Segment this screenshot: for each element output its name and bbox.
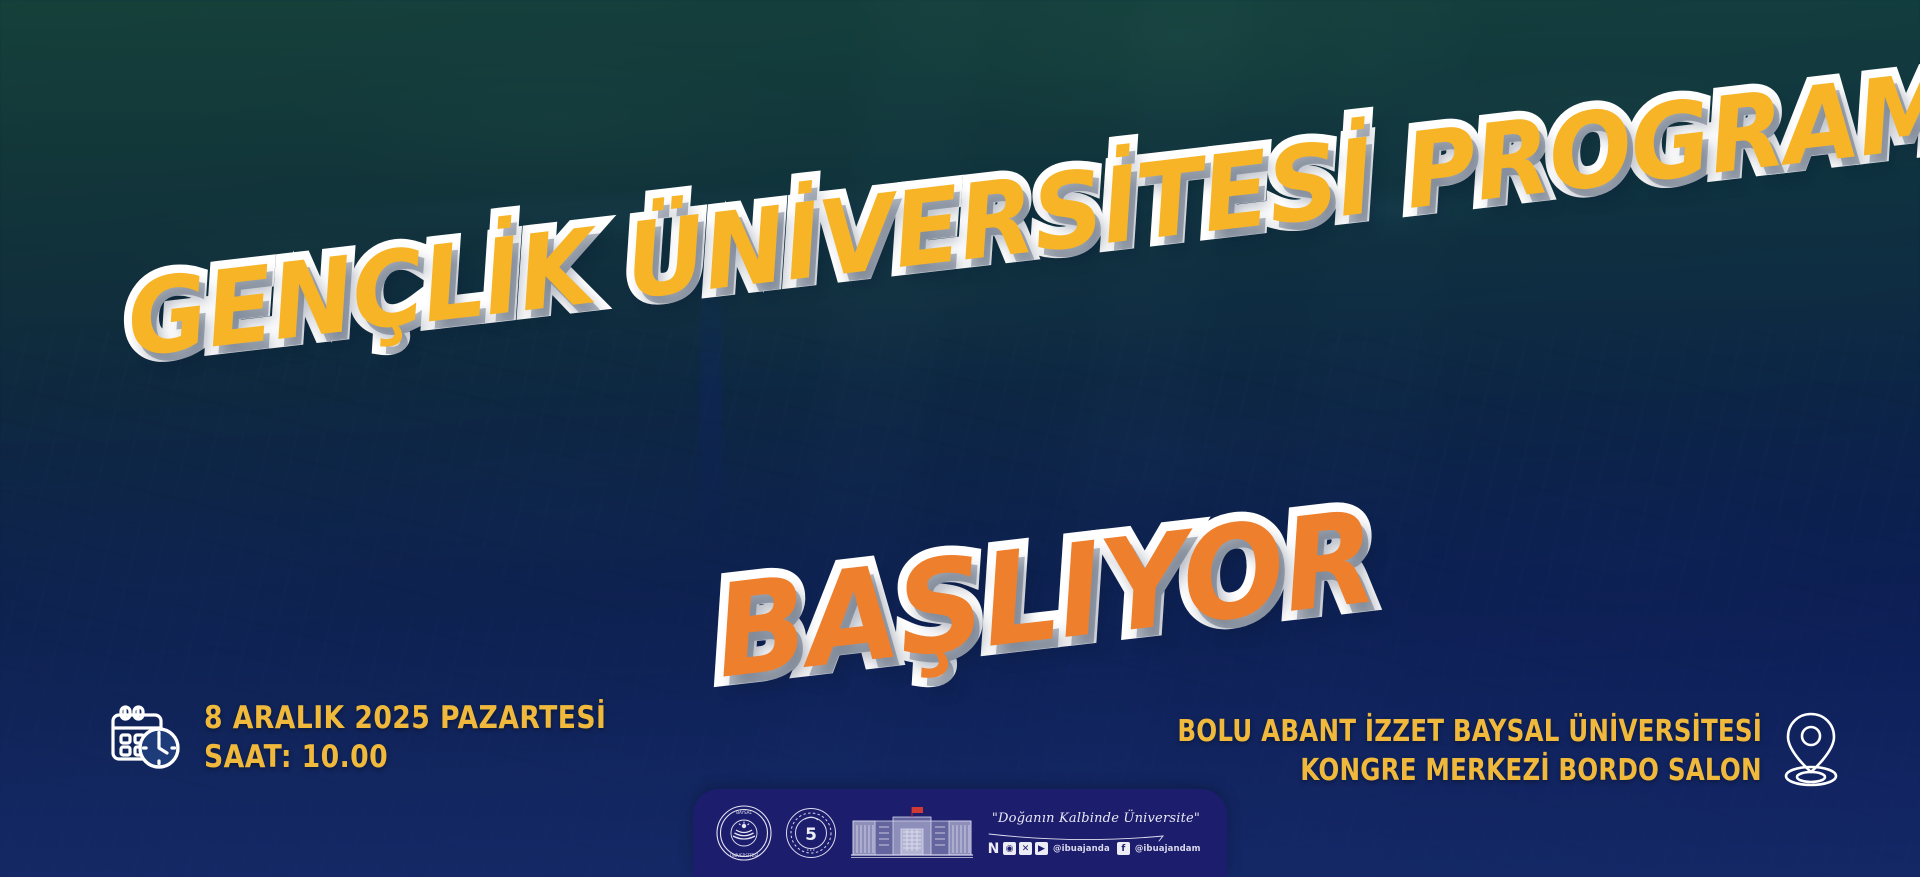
anniversary-5-badge-icon: 5 <box>785 807 837 859</box>
instagram-icon[interactable]: ◉ <box>1003 842 1016 855</box>
n-logo-icon[interactable]: N <box>987 842 1000 855</box>
event-venue-text: BOLU ABANT İZZET BAYSAL ÜNİVERSİTESİ KON… <box>1049 714 1762 788</box>
venue-institution: BOLU ABANT İZZET BAYSAL ÜNİVERSİTESİ <box>1177 714 1762 749</box>
rectorate-building-icon <box>849 805 975 861</box>
event-datetime: 8 ARALIK 2025 PAZARTESİ SAAT: 10.00 <box>110 700 672 775</box>
svg-text:BAYSAL: BAYSAL <box>736 810 752 815</box>
event-date: 8 ARALIK 2025 PAZARTESİ <box>204 700 606 736</box>
social-media-links: N ◉ ✕ ▶ @ibuajanda f @ibuajandam <box>987 842 1205 855</box>
slogan-underline-swoosh <box>987 829 1205 839</box>
x-twitter-icon[interactable]: ✕ <box>1019 842 1032 855</box>
social-handle-primary: @ibuajanda <box>1053 844 1110 854</box>
event-poster: GENÇLİK ÜNİVERSİTESİ PROGRAMI'2 BAŞLIYOR <box>0 0 1920 877</box>
social-handle-secondary: @ibuajandam <box>1135 844 1201 854</box>
svg-text:ÜNİVERSİTESİ: ÜNİVERSİTESİ <box>730 853 758 858</box>
location-pin-icon <box>1780 708 1842 794</box>
youtube-icon[interactable]: ▶ <box>1035 842 1048 855</box>
slogan-and-socials: "Doğanın Kalbinde Üniversite" N ◉ ✕ ▶ @i… <box>987 811 1205 855</box>
institution-logo-bar: BAYSAL ÜNİVERSİTESİ 5 <box>693 789 1227 877</box>
university-slogan: "Doğanın Kalbinde Üniversite" <box>987 811 1205 826</box>
event-datetime-text: 8 ARALIK 2025 PAZARTESİ SAAT: 10.00 <box>204 700 672 775</box>
svg-text:5: 5 <box>805 825 817 845</box>
event-time: SAAT: 10.00 <box>204 739 606 775</box>
event-venue: BOLU ABANT İZZET BAYSAL ÜNİVERSİTESİ KON… <box>1049 708 1842 794</box>
facebook-icon[interactable]: f <box>1117 842 1130 855</box>
calendar-clock-icon <box>110 704 182 772</box>
university-seal-icon: BAYSAL ÜNİVERSİTESİ <box>715 804 773 862</box>
venue-hall: KONGRE MERKEZİ BORDO SALON <box>1301 753 1762 788</box>
